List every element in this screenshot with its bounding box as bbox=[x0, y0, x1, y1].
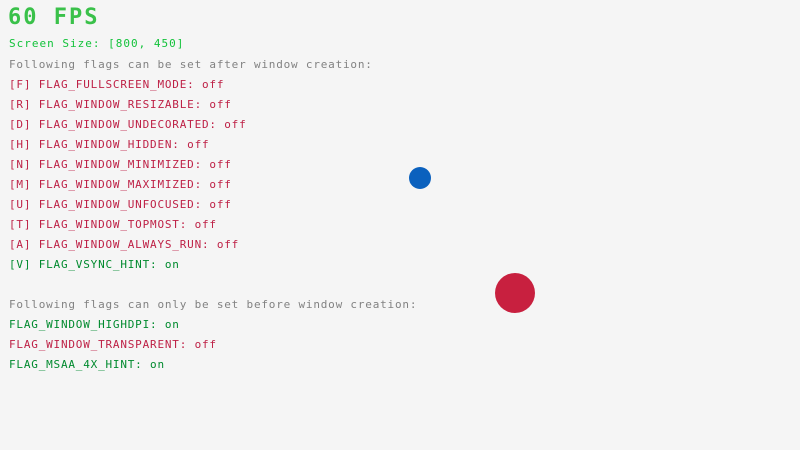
section-header-before-creation: Following flags can only be set before w… bbox=[9, 299, 417, 310]
app-canvas[interactable]: 60 FPS Screen Size: [800, 450] Following… bbox=[0, 0, 800, 450]
blue-circle bbox=[409, 167, 431, 189]
flag-line-flag-window-highdpi[interactable]: FLAG_WINDOW_HIGHDPI: on bbox=[9, 319, 180, 330]
flag-line-flag-window-unfocused[interactable]: [U] FLAG_WINDOW_UNFOCUSED: off bbox=[9, 199, 232, 210]
flag-line-flag-window-undecorated[interactable]: [D] FLAG_WINDOW_UNDECORATED: off bbox=[9, 119, 247, 130]
section-header-after-creation: Following flags can be set after window … bbox=[9, 59, 373, 70]
flag-line-flag-window-topmost[interactable]: [T] FLAG_WINDOW_TOPMOST: off bbox=[9, 219, 217, 230]
flag-line-flag-fullscreen-mode[interactable]: [F] FLAG_FULLSCREEN_MODE: off bbox=[9, 79, 224, 90]
fps-counter: 60 FPS bbox=[8, 7, 99, 29]
flag-line-flag-window-always-run[interactable]: [A] FLAG_WINDOW_ALWAYS_RUN: off bbox=[9, 239, 239, 250]
flag-line-flag-window-resizable[interactable]: [R] FLAG_WINDOW_RESIZABLE: off bbox=[9, 99, 232, 110]
red-circle bbox=[495, 273, 535, 313]
flag-line-flag-window-transparent[interactable]: FLAG_WINDOW_TRANSPARENT: off bbox=[9, 339, 217, 350]
flag-line-flag-window-minimized[interactable]: [N] FLAG_WINDOW_MINIMIZED: off bbox=[9, 159, 232, 170]
flag-line-flag-window-maximized[interactable]: [M] FLAG_WINDOW_MAXIMIZED: off bbox=[9, 179, 232, 190]
screen-size-label: Screen Size: [800, 450] bbox=[9, 38, 184, 49]
flag-line-flag-window-hidden[interactable]: [H] FLAG_WINDOW_HIDDEN: off bbox=[9, 139, 209, 150]
flag-line-flag-msaa-4x-hint[interactable]: FLAG_MSAA_4X_HINT: on bbox=[9, 359, 165, 370]
flag-line-flag-vsync-hint[interactable]: [V] FLAG_VSYNC_HINT: on bbox=[9, 259, 180, 270]
